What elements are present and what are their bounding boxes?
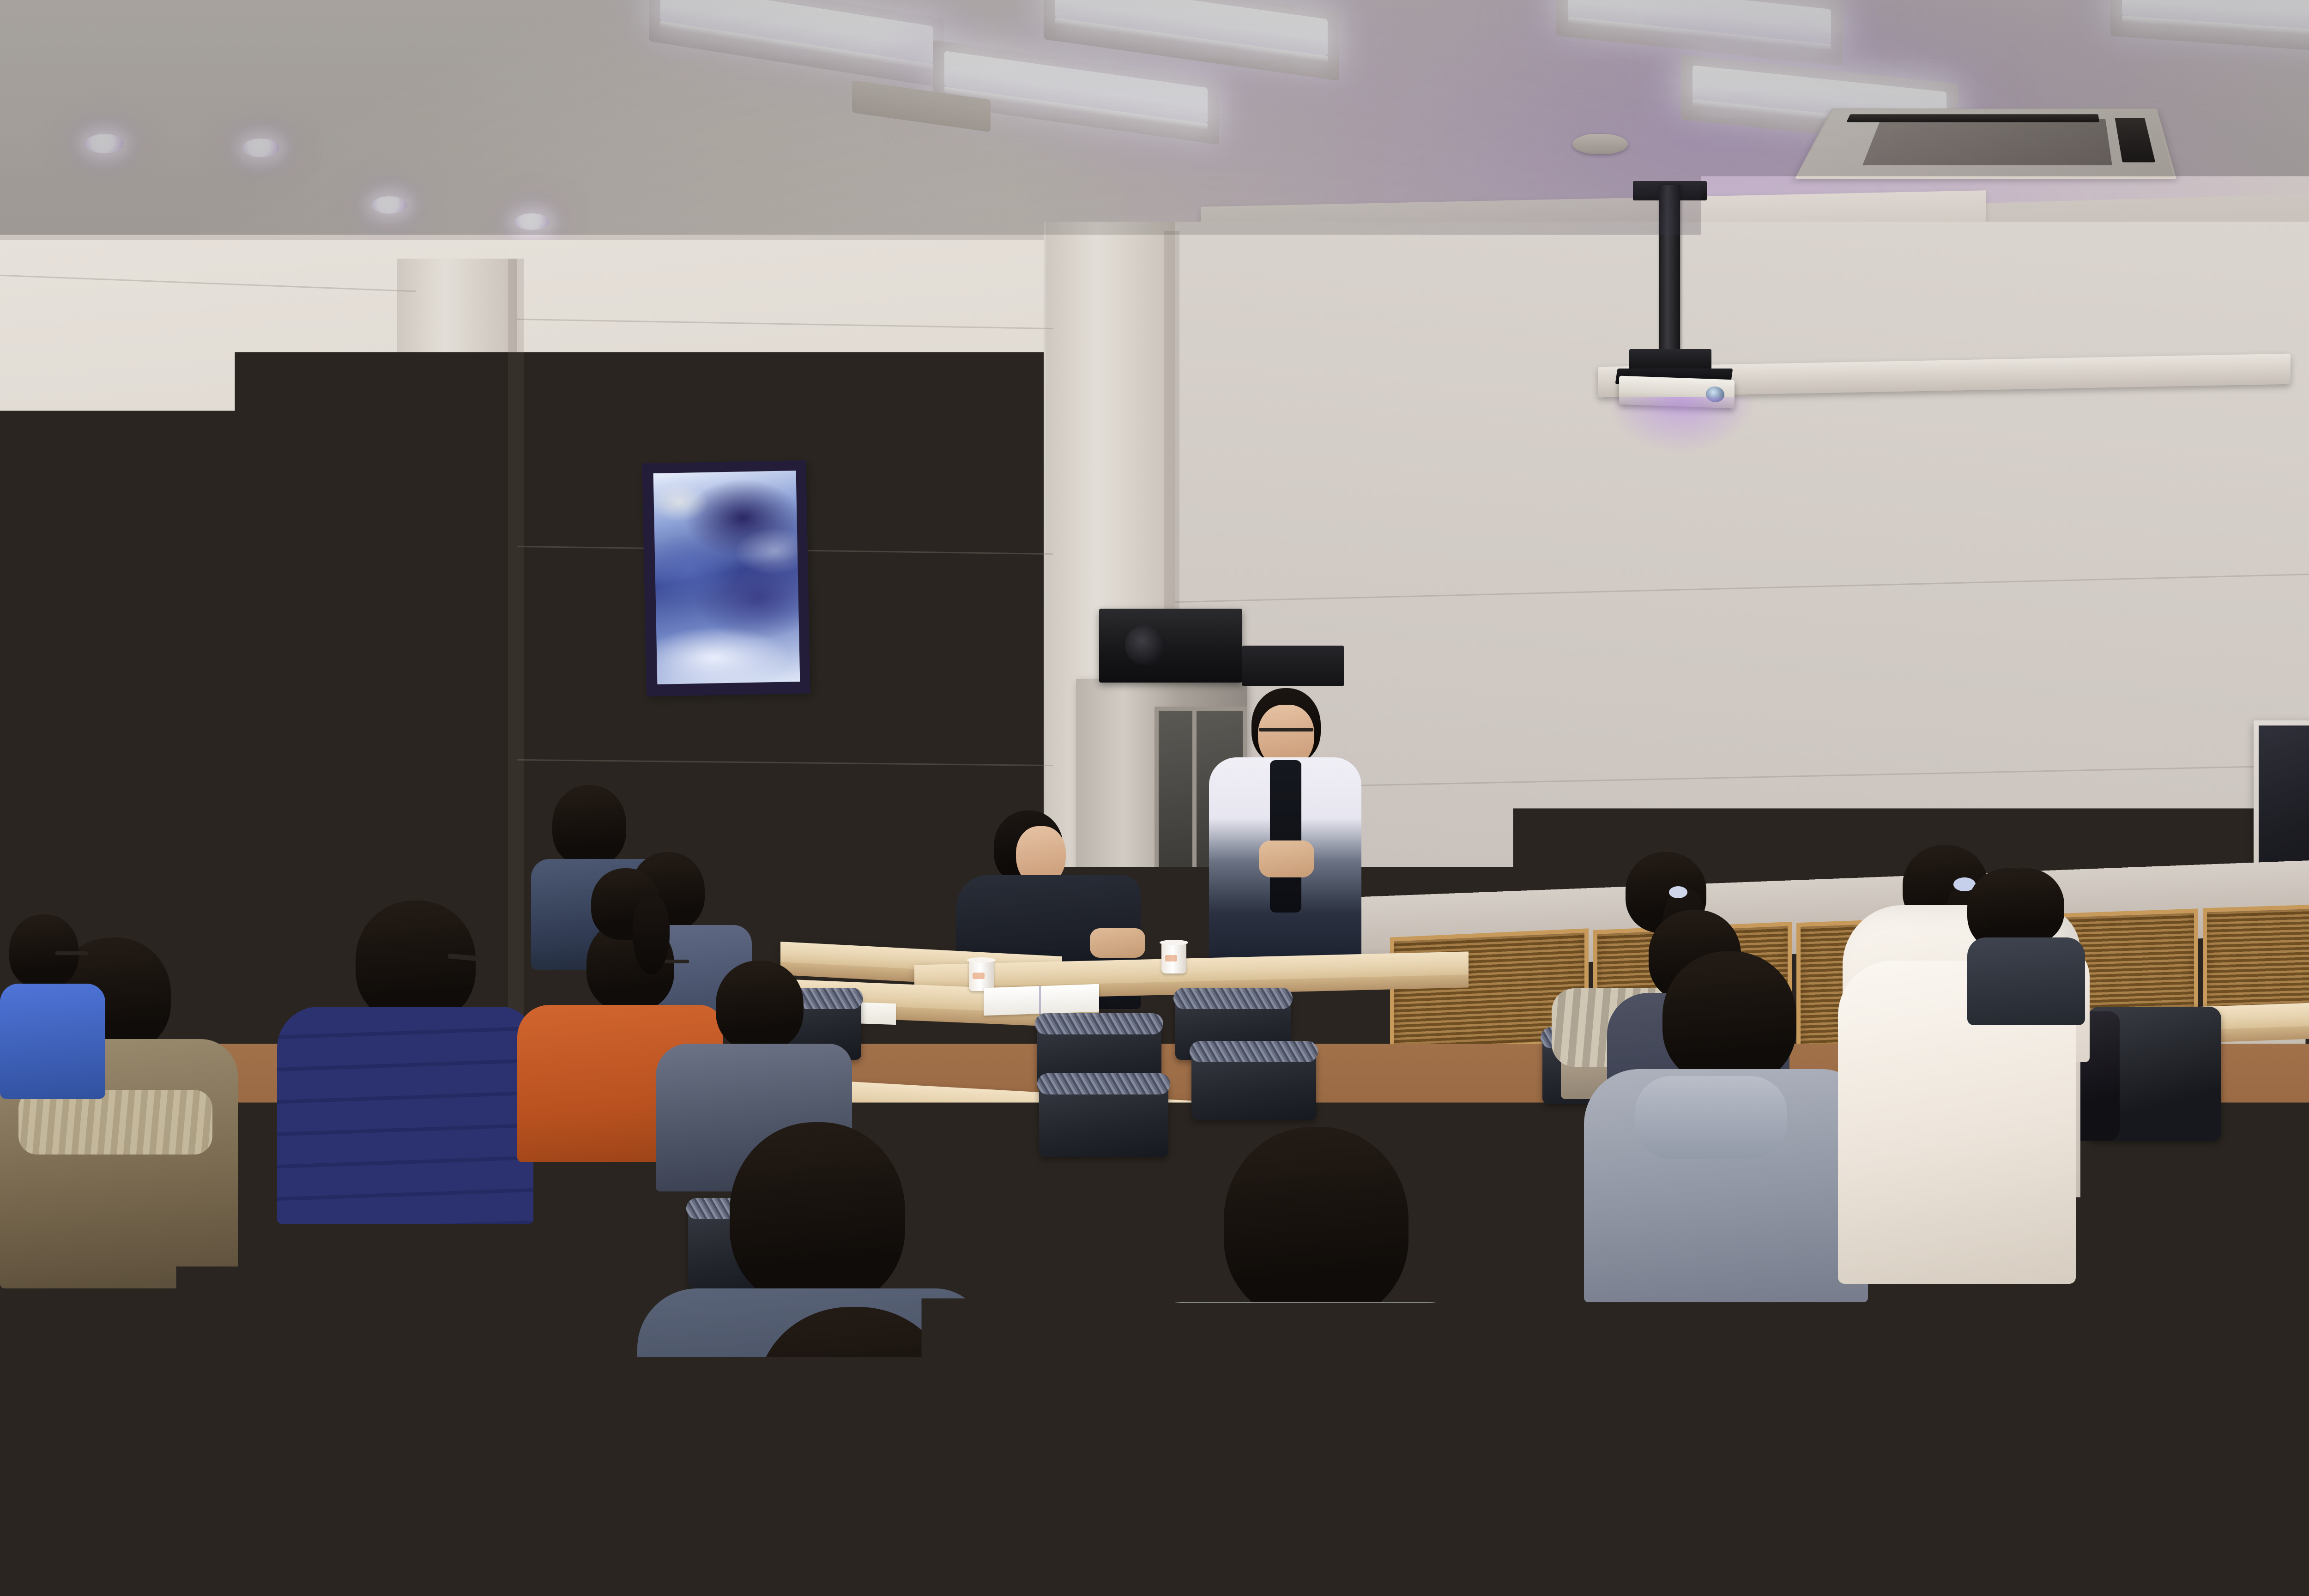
attendee-foreground bbox=[1118, 1127, 1487, 1596]
power-outlet[interactable] bbox=[151, 766, 188, 799]
attendee-head bbox=[1986, 868, 2064, 944]
osd-source-line: 源: 计算机 bbox=[1699, 543, 1890, 565]
attendee bbox=[277, 901, 536, 1224]
attendee bbox=[1967, 868, 2087, 1025]
fur-trim bbox=[18, 1090, 212, 1155]
downlight bbox=[85, 134, 123, 153]
attendee-jacket bbox=[1967, 937, 2085, 1025]
speaker-cone-icon bbox=[1125, 625, 1165, 665]
gift-bag bbox=[785, 834, 859, 944]
attendee-foreground bbox=[628, 1307, 1090, 1596]
attendee-head bbox=[716, 961, 804, 1051]
attendee-head bbox=[328, 746, 393, 815]
chair[interactable] bbox=[1501, 1529, 1686, 1596]
lecture-room-photo: 源: 计算机 (自动) 无信号。 要显示帮助,按下 ⊘ 按钮 bbox=[0, 0, 2309, 1596]
presenter-hands bbox=[1259, 840, 1314, 877]
gift-bag-image bbox=[801, 905, 850, 940]
chair[interactable] bbox=[0, 1413, 175, 1529]
chair[interactable] bbox=[416, 1279, 568, 1372]
downlight bbox=[372, 196, 407, 214]
gift-bag-logo bbox=[817, 847, 843, 868]
paper-cup bbox=[969, 960, 994, 991]
osd-help-line: 要显示帮助,按下 ⊘ 按钮 bbox=[1699, 743, 1890, 767]
desk-leg bbox=[596, 1367, 612, 1469]
power-led-icon bbox=[1439, 802, 1445, 808]
attendee-jacket bbox=[1118, 1041, 1309, 1191]
attendee-head bbox=[356, 901, 476, 1023]
attendee-head bbox=[1662, 951, 1796, 1085]
ceiling-ac-unit bbox=[1795, 109, 2176, 179]
attendee-head bbox=[730, 1122, 905, 1307]
attendee-jacket bbox=[309, 809, 423, 887]
chair[interactable] bbox=[125, 1302, 286, 1399]
hood bbox=[1187, 1307, 1408, 1376]
projector-mount-pole bbox=[1659, 185, 1680, 360]
ceiling-speaker bbox=[1572, 134, 1628, 154]
av-deck-unit bbox=[1242, 646, 1344, 686]
attendee-jacket bbox=[0, 984, 105, 1099]
glasses-icon bbox=[55, 951, 88, 955]
projector-lens-icon bbox=[1706, 386, 1724, 402]
ponytail bbox=[633, 896, 670, 974]
podium-remote-control[interactable] bbox=[1432, 797, 1503, 812]
power-outlet[interactable] bbox=[83, 762, 121, 795]
attendee-jacket bbox=[628, 1469, 1088, 1596]
glasses-icon bbox=[237, 840, 275, 844]
glasses-icon bbox=[1259, 728, 1313, 731]
wall-speaker bbox=[1099, 609, 1242, 683]
downlight bbox=[242, 139, 279, 157]
glasses-icon bbox=[73, 828, 109, 832]
closed-notebook bbox=[1589, 1333, 1695, 1360]
chair[interactable] bbox=[305, 1522, 499, 1596]
projector bbox=[1619, 376, 1735, 409]
wall-monitor[interactable] bbox=[2254, 720, 2309, 868]
hood bbox=[1635, 1076, 1787, 1159]
attendee-head bbox=[757, 1307, 951, 1487]
wall-monitor-screen bbox=[2259, 725, 2309, 863]
projection-screen-surface: 源: 计算机 (自动) 无信号。 要显示帮助,按下 ⊘ 按钮 bbox=[1682, 395, 2241, 845]
presenter-scarf bbox=[1270, 760, 1301, 913]
projector-osd-message: 源: 计算机 (自动) 无信号。 要显示帮助,按下 ⊘ 按钮 bbox=[1699, 501, 1890, 808]
framed-artwork bbox=[642, 460, 810, 697]
podium-top bbox=[1367, 813, 1552, 857]
attendee bbox=[1584, 951, 1870, 1302]
projection-screen: 源: 计算机 (自动) 无信号。 要显示帮助,按下 ⊘ 按钮 bbox=[1675, 387, 2249, 853]
open-notebook bbox=[984, 984, 1099, 1016]
gift-bag-text bbox=[807, 883, 849, 886]
attendee bbox=[0, 914, 106, 1099]
osd-status-line: 无信号。 bbox=[1699, 668, 1890, 690]
osd-mode-line: (自动) bbox=[1699, 606, 1890, 627]
attendee-head bbox=[1159, 951, 1256, 1048]
attendee bbox=[309, 746, 425, 884]
attendee-jacket bbox=[277, 1007, 533, 1224]
attendee bbox=[1118, 951, 1312, 1191]
downlight bbox=[515, 213, 549, 230]
attendee bbox=[563, 868, 702, 1016]
